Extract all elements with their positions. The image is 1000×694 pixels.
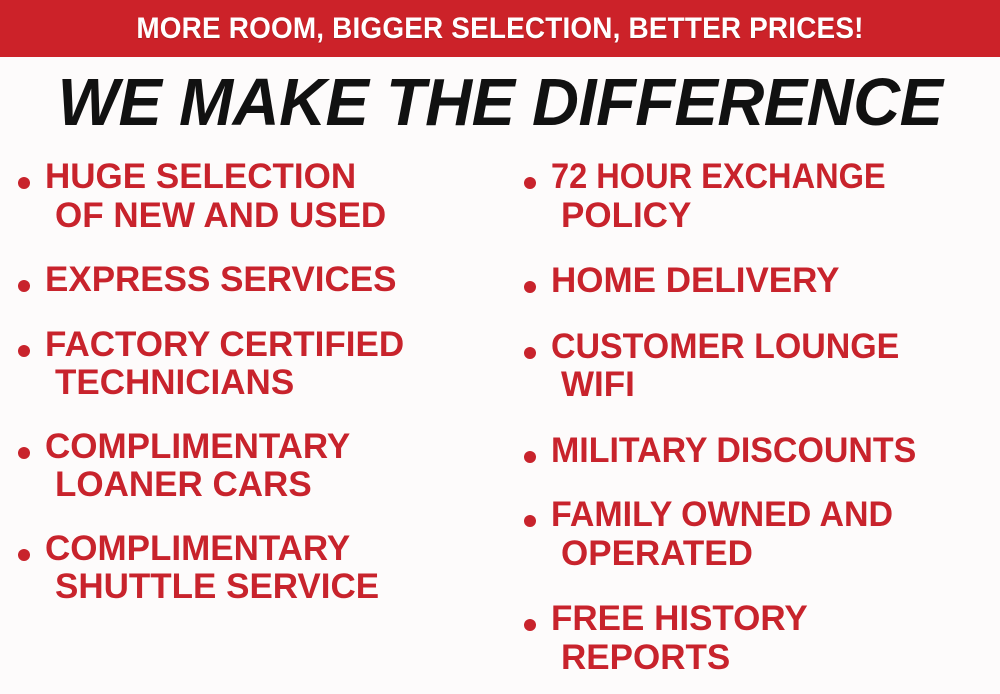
list-item-line: 72 HOUR EXCHANGE bbox=[551, 158, 886, 197]
list-item-line: OPERATED bbox=[551, 535, 904, 574]
list-item-line: WIFI bbox=[551, 366, 910, 405]
list-item-text: FACTORY CERTIFIED TECHNICIANS bbox=[45, 326, 404, 403]
features-column-left: HUGE SELECTION OF NEW AND USED EXPRESS S… bbox=[18, 142, 518, 607]
list-item-line: HUGE SELECTION bbox=[45, 158, 386, 197]
page-title: WE MAKE THE DIFFERENCE bbox=[58, 69, 943, 136]
list-item-line: FREE HISTORY bbox=[551, 600, 808, 639]
headline-container: WE MAKE THE DIFFERENCE bbox=[0, 57, 1000, 142]
list-item-text: HUGE SELECTION OF NEW AND USED bbox=[45, 158, 386, 235]
bullet-dot-icon bbox=[524, 177, 536, 189]
bullet-dot-icon bbox=[18, 345, 30, 357]
list-item: EXPRESS SERVICES bbox=[18, 261, 518, 300]
list-item-line: LOANER CARS bbox=[45, 466, 350, 505]
bullet-dot-icon bbox=[18, 177, 30, 189]
list-item-text: EXPRESS SERVICES bbox=[45, 261, 396, 300]
bullet-dot-icon bbox=[18, 549, 30, 561]
features-columns: HUGE SELECTION OF NEW AND USED EXPRESS S… bbox=[0, 142, 1000, 682]
list-item-line: REPORTS bbox=[551, 639, 808, 678]
list-item: FREE HISTORY REPORTS bbox=[524, 600, 1000, 677]
list-item-line: FAMILY OWNED AND bbox=[551, 496, 893, 535]
bullet-dot-icon bbox=[524, 515, 536, 527]
list-item-line: POLICY bbox=[551, 197, 911, 236]
list-item-line: TECHNICIANS bbox=[45, 364, 404, 403]
list-item-line: SHUTTLE SERVICE bbox=[45, 568, 379, 607]
bullet-dot-icon bbox=[18, 280, 30, 292]
list-item: HUGE SELECTION OF NEW AND USED bbox=[18, 158, 518, 235]
list-item-line: FACTORY CERTIFIED bbox=[45, 326, 404, 365]
bullet-dot-icon bbox=[524, 451, 536, 463]
features-column-right: 72 HOUR EXCHANGE POLICY HOME DELIVERY CU… bbox=[524, 142, 1000, 677]
list-item-line: MILITARY DISCOUNTS bbox=[551, 432, 916, 471]
list-item: COMPLIMENTARY SHUTTLE SERVICE bbox=[18, 530, 518, 607]
list-item: HOME DELIVERY bbox=[524, 262, 1000, 301]
bullet-dot-icon bbox=[524, 347, 536, 359]
list-item-text: HOME DELIVERY bbox=[551, 262, 839, 301]
list-item: CUSTOMER LOUNGE WIFI bbox=[524, 328, 1000, 405]
bullet-dot-icon bbox=[18, 447, 30, 459]
list-item: FACTORY CERTIFIED TECHNICIANS bbox=[18, 326, 518, 403]
top-promo-banner: MORE ROOM, BIGGER SELECTION, BETTER PRIC… bbox=[0, 0, 1000, 57]
list-item: MILITARY DISCOUNTS bbox=[524, 432, 1000, 471]
list-item-line: EXPRESS SERVICES bbox=[45, 261, 396, 300]
list-item: COMPLIMENTARY LOANER CARS bbox=[18, 428, 518, 505]
list-item-text: COMPLIMENTARY LOANER CARS bbox=[45, 428, 350, 505]
list-item-text: FAMILY OWNED AND OPERATED bbox=[551, 496, 904, 573]
list-item-line: COMPLIMENTARY bbox=[45, 530, 379, 569]
list-item-text: 72 HOUR EXCHANGE POLICY bbox=[551, 158, 911, 235]
list-item: FAMILY OWNED AND OPERATED bbox=[524, 496, 1000, 573]
promo-banner-text: MORE ROOM, BIGGER SELECTION, BETTER PRIC… bbox=[136, 12, 863, 46]
list-item-line: COMPLIMENTARY bbox=[45, 428, 350, 467]
list-item-text: FREE HISTORY REPORTS bbox=[551, 600, 808, 677]
list-item-line: CUSTOMER LOUNGE bbox=[551, 328, 899, 367]
bullet-dot-icon bbox=[524, 619, 536, 631]
list-item-text: CUSTOMER LOUNGE WIFI bbox=[551, 328, 910, 405]
list-item-line: OF NEW AND USED bbox=[45, 197, 386, 236]
list-item: 72 HOUR EXCHANGE POLICY bbox=[524, 158, 1000, 235]
list-item-text: MILITARY DISCOUNTS bbox=[551, 432, 928, 471]
list-item-text: COMPLIMENTARY SHUTTLE SERVICE bbox=[45, 530, 379, 607]
bullet-dot-icon bbox=[524, 281, 536, 293]
list-item-line: HOME DELIVERY bbox=[551, 262, 839, 301]
